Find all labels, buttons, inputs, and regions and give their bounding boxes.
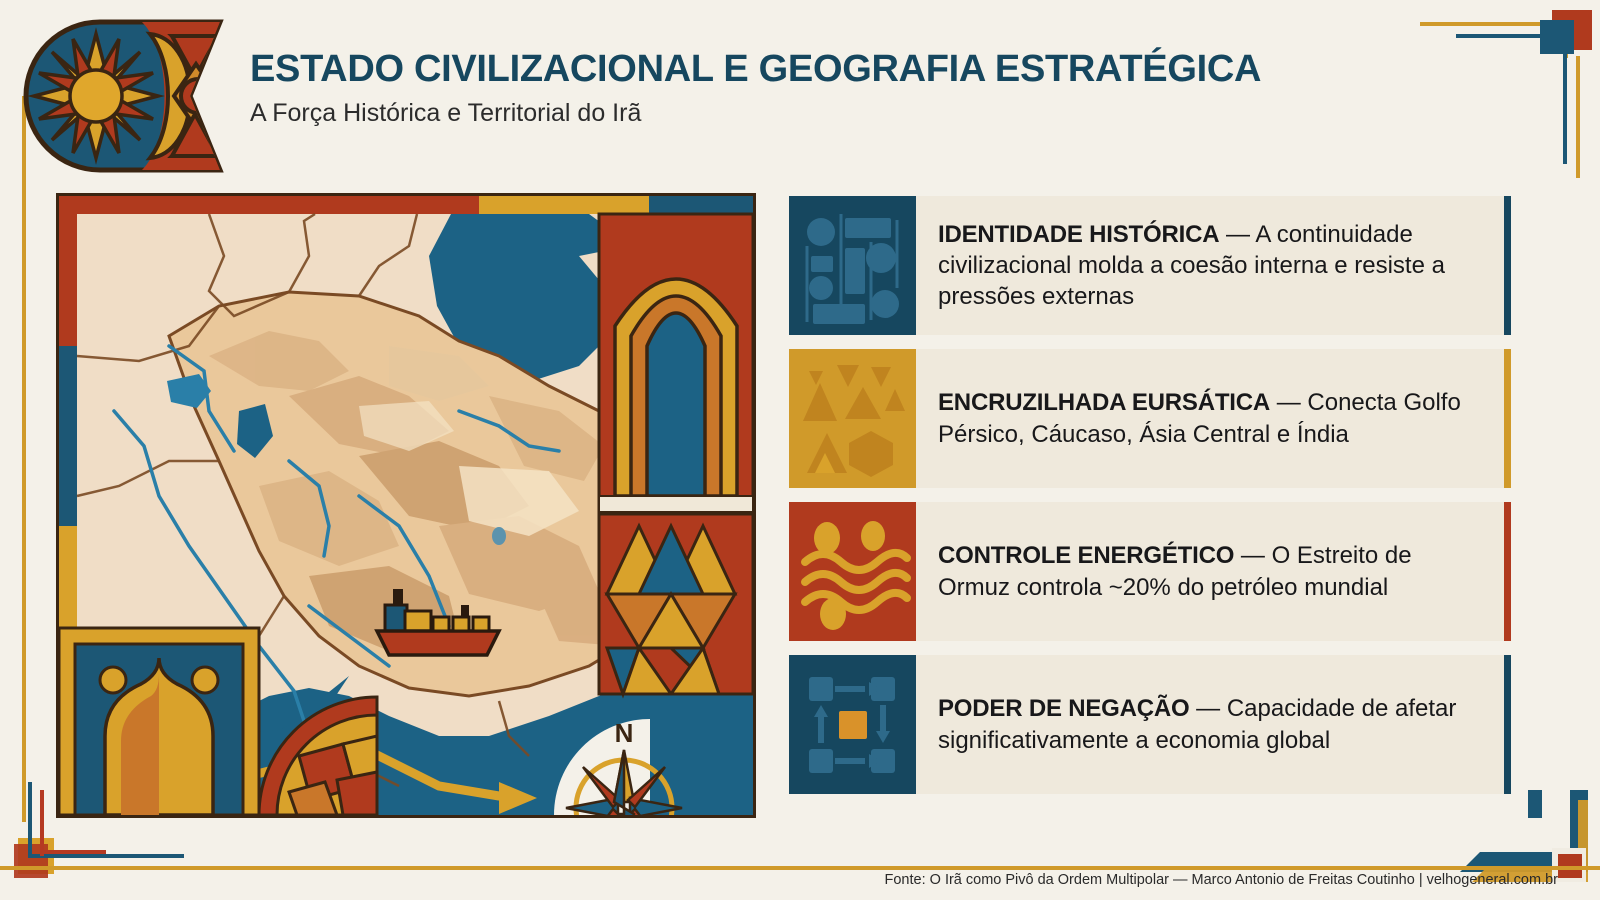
key-points-list: IDENTIDADE HISTÓRICA — A continuidade ci…	[789, 196, 1511, 808]
card-accent-bar	[1504, 655, 1511, 794]
frame-bottomleft-red-vertical	[40, 790, 44, 856]
frame-topright-gold-vertical-2	[1576, 56, 1580, 178]
footer-divider	[0, 866, 1600, 870]
card-text: PODER DE NEGAÇÃO — Capacidade de afetar …	[938, 693, 1484, 755]
card-text: CONTROLE ENERGÉTICO — O Estreito de Ormu…	[938, 540, 1484, 602]
mosaic-panel-ornament	[599, 514, 753, 694]
card-title: IDENTIDADE HISTÓRICA	[938, 221, 1219, 248]
persian-sun-emblem	[22, 16, 232, 176]
card-title: PODER DE NEGAÇÃO	[938, 695, 1190, 722]
network-arrows-icon	[789, 655, 916, 794]
frame-bottomleft-red-horizontal	[40, 850, 106, 854]
card-poder-de-negacao[interactable]: PODER DE NEGAÇÃO — Capacidade de afetar …	[789, 655, 1511, 794]
frame-left-gold-rule	[22, 96, 26, 822]
card-encruzilhada-eursatica[interactable]: ENCRUZILHADA EURSÁTICA — Conecta Golfo P…	[789, 349, 1511, 488]
infographic-page: ESTADO CIVILIZACIONAL E GEOGRAFIA ESTRAT…	[0, 0, 1600, 900]
page-subtitle: A Força Histórica e Territorial do Irã	[250, 99, 1261, 128]
card-dash: —	[1196, 695, 1220, 722]
card-dash: —	[1277, 389, 1301, 416]
card-dash: —	[1226, 221, 1250, 248]
footer-source: Fonte: O Irã como Pivô da Ordem Multipol…	[0, 872, 1580, 888]
card-body: CONTROLE ENERGÉTICO — O Estreito de Ormu…	[916, 502, 1504, 641]
architecture-blocks-icon	[789, 196, 916, 335]
compass-north-label: N	[615, 718, 634, 748]
card-body: IDENTIDADE HISTÓRICA — A continuidade ci…	[916, 196, 1504, 335]
card-accent-bar	[1504, 502, 1511, 641]
card-body: ENCRUZILHADA EURSÁTICA — Conecta Golfo P…	[916, 349, 1504, 488]
header: ESTADO CIVILIZACIONAL E GEOGRAFIA ESTRAT…	[22, 8, 1422, 178]
card-controle-energetico[interactable]: CONTROLE ENERGÉTICO — O Estreito de Ormu…	[789, 502, 1511, 641]
small-lake	[492, 527, 506, 545]
oil-waves-icon	[789, 502, 916, 641]
frame-topright-blue-vertical	[1563, 38, 1567, 164]
card-title: ENCRUZILHADA EURSÁTICA	[938, 389, 1270, 416]
iran-relief-map: N	[59, 196, 753, 815]
frame-bottomleft-blue-vertical	[28, 782, 32, 858]
mountains-triangles-icon	[789, 349, 916, 488]
page-title: ESTADO CIVILIZACIONAL E GEOGRAFIA ESTRAT…	[250, 50, 1261, 90]
card-identidade-historica[interactable]: IDENTIDADE HISTÓRICA — A continuidade ci…	[789, 196, 1511, 335]
card-dash: —	[1241, 542, 1265, 569]
card-accent-bar	[1504, 196, 1511, 335]
card-title: CONTROLE ENERGÉTICO	[938, 542, 1234, 569]
iwan-arch-ornament	[599, 214, 753, 514]
frame-topright-blue-square	[1540, 20, 1574, 54]
mihrab-arch-ornament	[59, 628, 259, 815]
map-panel[interactable]: N	[56, 193, 756, 818]
card-text: ENCRUZILHADA EURSÁTICA — Conecta Golfo P…	[938, 387, 1484, 449]
card-text: IDENTIDADE HISTÓRICA — A continuidade ci…	[938, 219, 1484, 313]
title-block: ESTADO CIVILIZACIONAL E GEOGRAFIA ESTRAT…	[250, 50, 1261, 128]
frame-bottomleft-blue-horizontal	[28, 854, 184, 858]
card-accent-bar	[1504, 349, 1511, 488]
card-body: PODER DE NEGAÇÃO — Capacidade de afetar …	[916, 655, 1504, 794]
